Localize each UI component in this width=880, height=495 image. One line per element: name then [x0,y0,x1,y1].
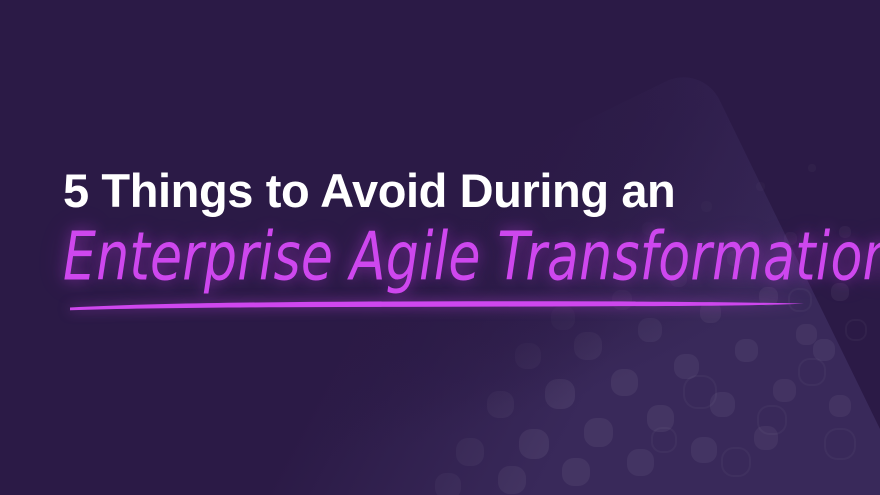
headline-block: 5 Things to Avoid During an Enterprise A… [63,166,853,315]
hand-drawn-underline-icon [68,295,808,317]
headline-script-wrap: Enterprise Agile Transformation [63,223,853,315]
headline-line-1: 5 Things to Avoid During an [63,166,853,216]
title-card: 5 Things to Avoid During an Enterprise A… [0,0,880,495]
headline-line-2: Enterprise Agile Transformation [63,223,880,292]
